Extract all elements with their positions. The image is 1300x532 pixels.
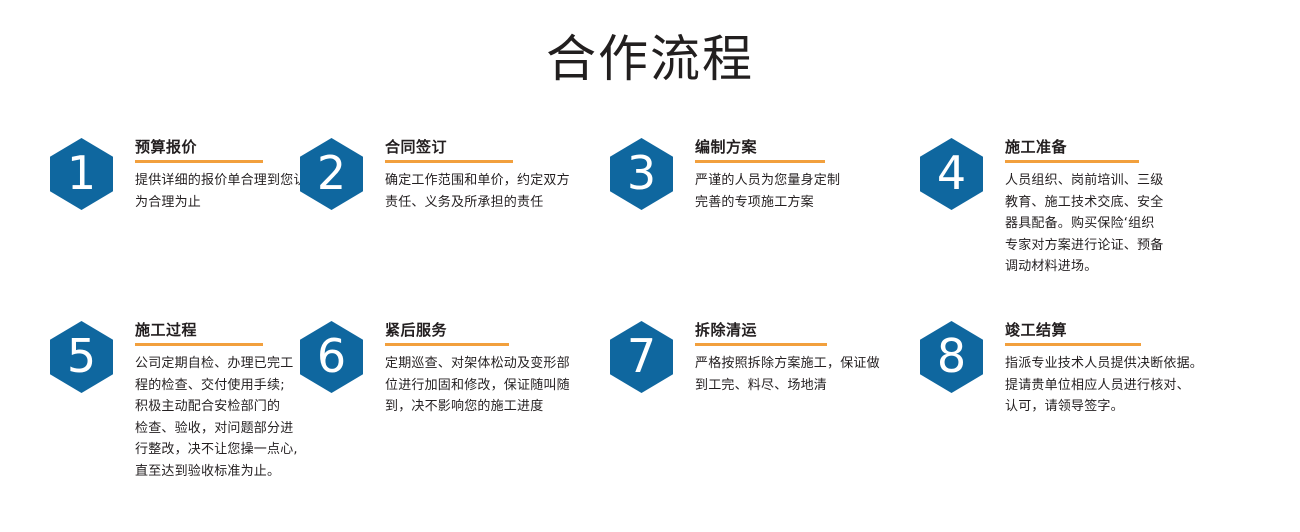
step-desc-line: 直至达到验收标准为止。 <box>135 461 300 483</box>
step-desc-line: 行整改，决不让您操一点心, <box>135 439 300 461</box>
steps-row-1: 1 预算报价 提供详细的报价单合理到您认 为合理为止 2 合同签订 <box>0 131 1300 309</box>
step-number-7: 7 <box>627 333 656 379</box>
hexagon-badge-7: 7 <box>610 321 673 393</box>
step-desc-line: 公司定期自检、办理已完工 <box>135 353 300 375</box>
step-desc-line: 教育、施工技术交底、安全 <box>1005 192 1250 214</box>
step-underline-7 <box>695 343 827 346</box>
step-desc-line: 提供详细的报价单合理到您认 <box>135 170 300 192</box>
step-title-7: 拆除清运 <box>695 320 910 340</box>
step-number-8: 8 <box>937 333 966 379</box>
step-card-3[interactable]: 3 编制方案 严谨的人员为您量身定制 完善的专项施工方案 <box>605 131 910 213</box>
step-card-5[interactable]: 5 施工过程 公司定期自检、办理已完工 程的检查、交付使用手续; 积极主动配合安… <box>0 314 300 482</box>
step-desc-line: 器具配备。购买保险‘组织 <box>1005 213 1250 235</box>
hexagon-badge-1: 1 <box>50 138 113 210</box>
step-description-8: 指派专业技术人员提供决断依据。 提请贵单位相应人员进行核对、 认可，请领导签字。 <box>1005 353 1250 418</box>
step-text-3: 编制方案 严谨的人员为您量身定制 完善的专项施工方案 <box>673 131 910 213</box>
step-desc-line: 为合理为止 <box>135 192 300 214</box>
step-desc-line: 调动材料进场。 <box>1005 256 1250 278</box>
step-title-3: 编制方案 <box>695 137 910 157</box>
step-card-2[interactable]: 2 合同签订 确定工作范围和单价，约定双方 责任、义务及所承担的责任 <box>300 131 605 213</box>
step-card-6[interactable]: 6 紧后服务 定期巡查、对架体松动及变形部 位进行加固和修改，保证随叫随 到，决… <box>300 314 605 418</box>
step-card-7[interactable]: 7 拆除清运 严格按照拆除方案施工，保证做 到工完、料尽、场地清 <box>605 314 910 396</box>
step-underline-5 <box>135 343 263 346</box>
hexagon-badge-5: 5 <box>50 321 113 393</box>
step-desc-line: 专家对方案进行论证、预备 <box>1005 235 1250 257</box>
step-desc-line: 积极主动配合安检部门的 <box>135 396 300 418</box>
step-underline-6 <box>385 343 509 346</box>
hexagon-badge-4: 4 <box>920 138 983 210</box>
step-text-1: 预算报价 提供详细的报价单合理到您认 为合理为止 <box>113 131 300 213</box>
step-description-4: 人员组织、岗前培训、三级 教育、施工技术交底、安全 器具配备。购买保险‘组织 专… <box>1005 170 1250 278</box>
step-number-4: 4 <box>937 150 966 196</box>
step-underline-8 <box>1005 343 1141 346</box>
step-card-1[interactable]: 1 预算报价 提供详细的报价单合理到您认 为合理为止 <box>0 131 300 213</box>
step-title-8: 竣工结算 <box>1005 320 1250 340</box>
step-text-5: 施工过程 公司定期自检、办理已完工 程的检查、交付使用手续; 积极主动配合安检部… <box>113 314 300 482</box>
step-desc-line: 到工完、料尽、场地清 <box>695 375 910 397</box>
step-text-2: 合同签订 确定工作范围和单价，约定双方 责任、义务及所承担的责任 <box>363 131 605 213</box>
step-desc-line: 位进行加固和修改，保证随叫随 <box>385 375 605 397</box>
step-text-7: 拆除清运 严格按照拆除方案施工，保证做 到工完、料尽、场地清 <box>673 314 910 396</box>
step-title-1: 预算报价 <box>135 137 300 157</box>
step-description-2: 确定工作范围和单价，约定双方 责任、义务及所承担的责任 <box>385 170 605 213</box>
step-desc-line: 责任、义务及所承担的责任 <box>385 192 605 214</box>
steps-row-2: 5 施工过程 公司定期自检、办理已完工 程的检查、交付使用手续; 积极主动配合安… <box>0 314 1300 482</box>
step-description-6: 定期巡查、对架体松动及变形部 位进行加固和修改，保证随叫随 到，决不影响您的施工… <box>385 353 605 418</box>
step-underline-4 <box>1005 160 1139 163</box>
step-number-5: 5 <box>67 333 96 379</box>
step-description-3: 严谨的人员为您量身定制 完善的专项施工方案 <box>695 170 910 213</box>
hexagon-badge-2: 2 <box>300 138 363 210</box>
step-card-8[interactable]: 8 竣工结算 指派专业技术人员提供决断依据。 提请贵单位相应人员进行核对、 认可… <box>910 314 1250 418</box>
step-desc-line: 人员组织、岗前培训、三级 <box>1005 170 1250 192</box>
step-underline-2 <box>385 160 513 163</box>
cooperation-process-infographic: 合作流程 1 预算报价 提供详细的报价单合理到您认 为合理为止 <box>0 0 1300 532</box>
step-description-5: 公司定期自检、办理已完工 程的检查、交付使用手续; 积极主动配合安检部门的 检查… <box>135 353 300 482</box>
step-text-4: 施工准备 人员组织、岗前培训、三级 教育、施工技术交底、安全 器具配备。购买保险… <box>983 131 1250 278</box>
step-desc-line: 认可，请领导签字。 <box>1005 396 1250 418</box>
step-text-8: 竣工结算 指派专业技术人员提供决断依据。 提请贵单位相应人员进行核对、 认可，请… <box>983 314 1250 418</box>
step-card-4[interactable]: 4 施工准备 人员组织、岗前培训、三级 教育、施工技术交底、安全 器具配备。购买… <box>910 131 1250 278</box>
step-desc-line: 确定工作范围和单价，约定双方 <box>385 170 605 192</box>
step-desc-line: 完善的专项施工方案 <box>695 192 910 214</box>
step-title-6: 紧后服务 <box>385 320 605 340</box>
steps-grid: 1 预算报价 提供详细的报价单合理到您认 为合理为止 2 合同签订 <box>0 131 1300 482</box>
step-number-6: 6 <box>317 333 346 379</box>
step-description-1: 提供详细的报价单合理到您认 为合理为止 <box>135 170 300 213</box>
step-description-7: 严格按照拆除方案施工，保证做 到工完、料尽、场地清 <box>695 353 910 396</box>
step-title-5: 施工过程 <box>135 320 300 340</box>
step-underline-3 <box>695 160 825 163</box>
step-desc-line: 严格按照拆除方案施工，保证做 <box>695 353 910 375</box>
hexagon-badge-8: 8 <box>920 321 983 393</box>
step-number-1: 1 <box>67 150 96 196</box>
step-desc-line: 程的检查、交付使用手续; <box>135 375 300 397</box>
step-underline-1 <box>135 160 263 163</box>
step-desc-line: 定期巡查、对架体松动及变形部 <box>385 353 605 375</box>
hexagon-badge-3: 3 <box>610 138 673 210</box>
step-desc-line: 到，决不影响您的施工进度 <box>385 396 605 418</box>
step-title-2: 合同签订 <box>385 137 605 157</box>
hexagon-badge-6: 6 <box>300 321 363 393</box>
step-text-6: 紧后服务 定期巡查、对架体松动及变形部 位进行加固和修改，保证随叫随 到，决不影… <box>363 314 605 418</box>
page-title: 合作流程 <box>0 28 1300 90</box>
step-number-2: 2 <box>317 150 346 196</box>
step-desc-line: 指派专业技术人员提供决断依据。 <box>1005 353 1250 375</box>
step-number-3: 3 <box>627 150 656 196</box>
step-desc-line: 严谨的人员为您量身定制 <box>695 170 910 192</box>
step-desc-line: 提请贵单位相应人员进行核对、 <box>1005 375 1250 397</box>
step-title-4: 施工准备 <box>1005 137 1250 157</box>
step-desc-line: 检查、验收，对问题部分进 <box>135 418 300 440</box>
